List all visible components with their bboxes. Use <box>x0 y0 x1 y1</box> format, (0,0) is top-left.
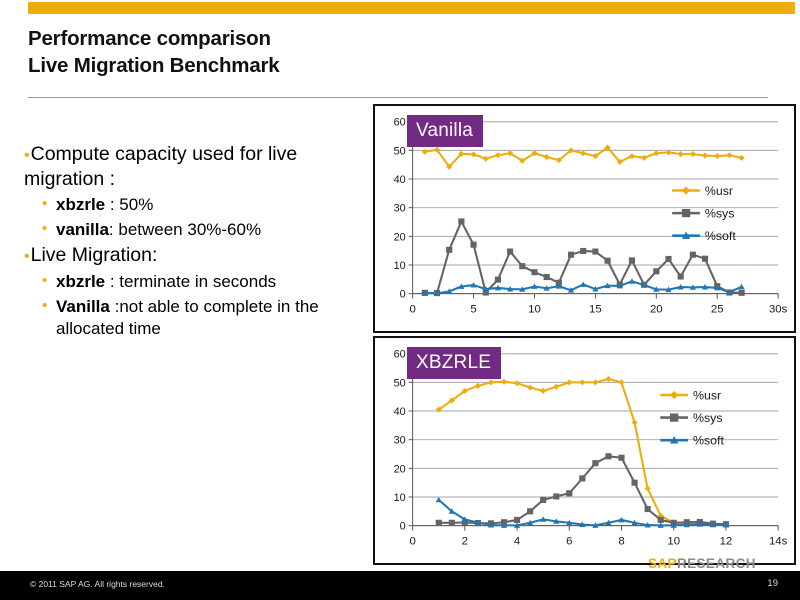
bullet-dot-icon: • <box>24 147 30 164</box>
svg-text:14s: 14s <box>769 535 788 547</box>
slide-footer: © 2011 SAP AG. All rights reserved. 19 <box>0 571 800 600</box>
svg-text:30: 30 <box>394 435 406 447</box>
svg-text:%usr: %usr <box>693 388 721 402</box>
bullet-bold-4: xbzrle <box>56 272 105 291</box>
svg-text:20: 20 <box>394 231 406 243</box>
svg-text:12: 12 <box>720 535 733 547</box>
bullet-bold-5: Vanilla <box>56 297 110 316</box>
svg-text:6: 6 <box>566 535 572 547</box>
chart-vanilla: 0102030405060051015202530s%usr%sys%soft … <box>373 104 796 333</box>
chart-vanilla-badge: Vanilla <box>407 115 483 147</box>
bullet-dot-icon: • <box>42 194 47 214</box>
svg-text:4: 4 <box>514 535 520 547</box>
svg-text:10: 10 <box>528 303 541 315</box>
bullet-dot-icon: • <box>42 296 47 316</box>
bullet-bold-2: vanilla <box>56 220 109 239</box>
svg-text:40: 40 <box>394 174 406 186</box>
svg-text:%sys: %sys <box>693 411 723 425</box>
svg-text:2: 2 <box>462 535 468 547</box>
svg-text:8: 8 <box>618 535 624 547</box>
logo-research-text: RESEARCH <box>677 556 756 571</box>
title-line-2: Live Migration Benchmark <box>28 53 528 80</box>
footer-page-number: 19 <box>767 578 778 589</box>
svg-text:30: 30 <box>394 203 406 215</box>
bullet-item-1: •xbzrle : 50% <box>42 194 369 216</box>
bullet-list: •Compute capacity used for live migratio… <box>24 142 369 342</box>
svg-text:0: 0 <box>409 535 415 547</box>
bullet-item-0: •Compute capacity used for live migratio… <box>24 142 369 191</box>
bullet-text-2: : between 30%-60% <box>109 220 261 239</box>
svg-text:20: 20 <box>650 303 663 315</box>
svg-text:20: 20 <box>394 463 406 475</box>
slide-canvas: Performance comparison Live Migration Be… <box>0 0 800 600</box>
bullet-text-1: : 50% <box>105 195 153 214</box>
svg-text:%soft: %soft <box>705 229 737 243</box>
svg-text:15: 15 <box>589 303 602 315</box>
bullet-text-4: : terminate in seconds <box>105 272 276 291</box>
bullet-dot-icon: • <box>42 219 47 239</box>
chart-xbzrle-badge: XBZRLE <box>407 347 501 379</box>
footer-copyright: © 2011 SAP AG. All rights reserved. <box>30 579 165 589</box>
bullet-dot-icon: • <box>24 248 30 265</box>
svg-text:60: 60 <box>394 349 406 361</box>
bullet-item-4: •xbzrle : terminate in seconds <box>42 271 369 293</box>
bullet-item-2: •vanilla: between 30%-60% <box>42 219 369 241</box>
svg-text:60: 60 <box>394 117 406 129</box>
title-divider <box>28 97 768 98</box>
bullet-text-3: Live Migration: <box>31 244 158 266</box>
svg-text:%sys: %sys <box>705 207 735 221</box>
page-title: Performance comparison Live Migration Be… <box>28 26 528 79</box>
svg-text:10: 10 <box>667 535 680 547</box>
svg-text:5: 5 <box>470 303 476 315</box>
bullet-item-5: •Vanilla :not able to complete in the al… <box>42 296 369 340</box>
svg-text:50: 50 <box>394 377 406 389</box>
sap-research-logo: SAPRESEARCH <box>648 556 756 571</box>
title-line-1: Performance comparison <box>28 26 528 53</box>
logo-sap-text: SAP <box>648 556 677 571</box>
bullet-text-0: Compute capacity used for live migration… <box>24 143 297 190</box>
bullet-bold-1: xbzrle <box>56 195 105 214</box>
svg-text:%soft: %soft <box>693 434 725 448</box>
svg-text:0: 0 <box>400 521 406 533</box>
svg-text:25: 25 <box>711 303 724 315</box>
svg-text:40: 40 <box>394 406 406 418</box>
bullet-item-3: •Live Migration: <box>24 243 369 268</box>
bullet-dot-icon: • <box>42 271 47 291</box>
svg-text:10: 10 <box>394 492 406 504</box>
svg-text:0: 0 <box>400 289 406 301</box>
svg-text:10: 10 <box>394 260 406 272</box>
svg-text:%usr: %usr <box>705 184 733 198</box>
svg-text:50: 50 <box>394 145 406 157</box>
top-accent-bar <box>28 2 795 14</box>
svg-text:0: 0 <box>409 303 415 315</box>
chart-xbzrle: 010203040506002468101214s%usr%sys%soft X… <box>373 336 796 565</box>
svg-text:30s: 30s <box>769 303 788 315</box>
